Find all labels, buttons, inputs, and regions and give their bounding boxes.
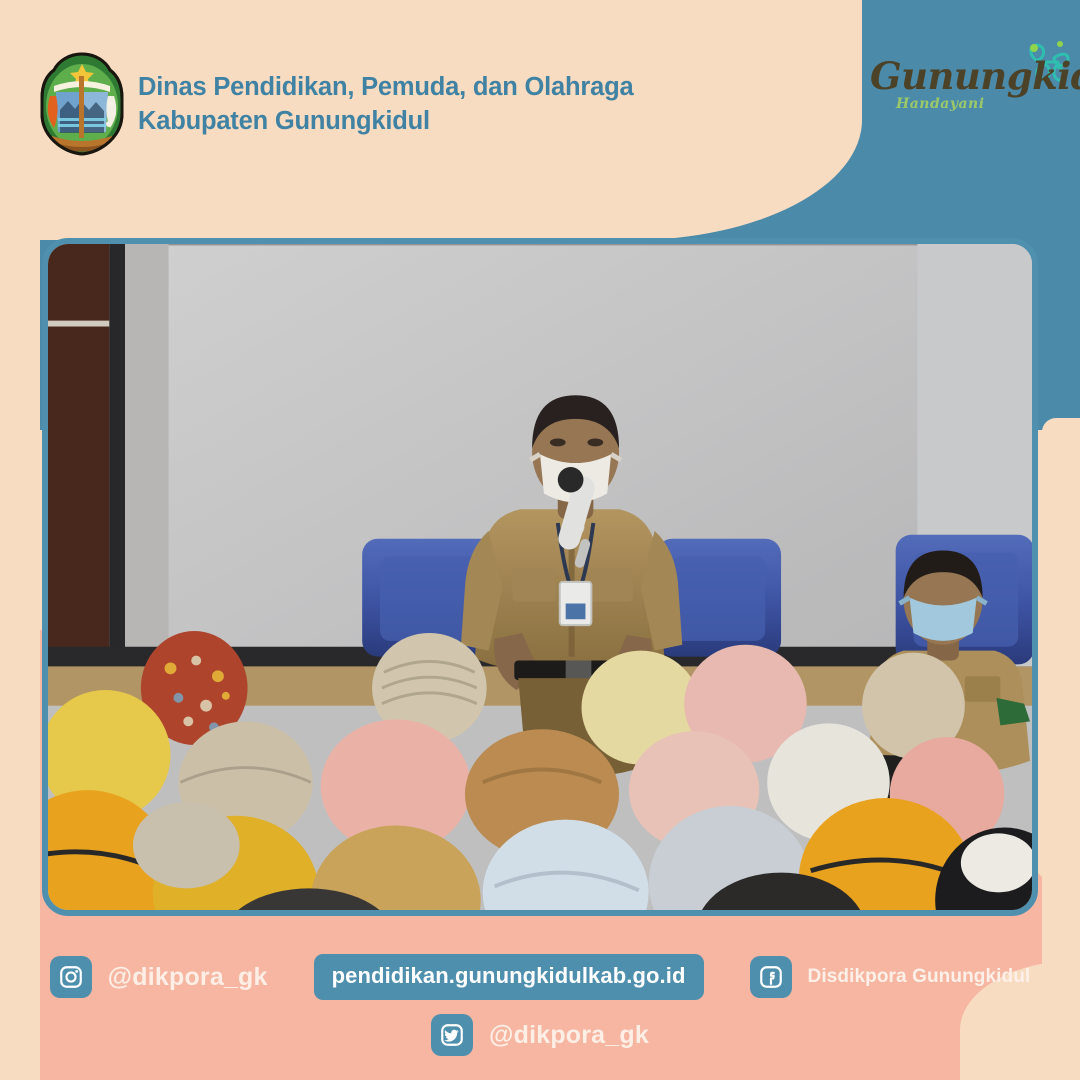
poster-canvas: Dinas Pendidikan, Pemuda, dan Olahraga K… <box>0 0 1080 1080</box>
footer-social-bar: @dikpora_gk pendidikan.gunungkidulkab.go… <box>0 930 1080 1080</box>
gunungkidul-regency-crest-icon <box>40 52 124 156</box>
brand-tagline: Handayani <box>896 96 985 112</box>
header-bar: Dinas Pendidikan, Pemuda, dan Olahraga K… <box>0 0 862 236</box>
page-title-line-2: Kabupaten Gunungkidul <box>138 104 633 138</box>
footer-row-2: @dikpora_gk <box>0 1014 1080 1056</box>
brand-wordmark: Gunungkidul <box>870 54 1080 98</box>
facebook-page-label[interactable]: Disdikpora Gunungkidul <box>808 966 1031 988</box>
facebook-icon[interactable] <box>750 956 792 998</box>
instagram-icon[interactable] <box>50 956 92 998</box>
page-title-line-1: Dinas Pendidikan, Pemuda, dan Olahraga <box>138 70 633 104</box>
photo-frame <box>42 238 1038 916</box>
footer-row-1: @dikpora_gk pendidikan.gunungkidulkab.go… <box>0 954 1080 1000</box>
twitter-icon[interactable] <box>431 1014 473 1056</box>
gunungkidul-brand-logo: Gunungkidul Handayani <box>866 44 1080 140</box>
event-photo <box>48 244 1032 910</box>
header-title-group: Dinas Pendidikan, Pemuda, dan Olahraga K… <box>138 70 633 138</box>
instagram-handle-label[interactable]: @dikpora_gk <box>108 963 268 992</box>
twitter-handle-label[interactable]: @dikpora_gk <box>489 1021 649 1050</box>
website-url-chip[interactable]: pendidikan.gunungkidulkab.go.id <box>314 954 704 1000</box>
